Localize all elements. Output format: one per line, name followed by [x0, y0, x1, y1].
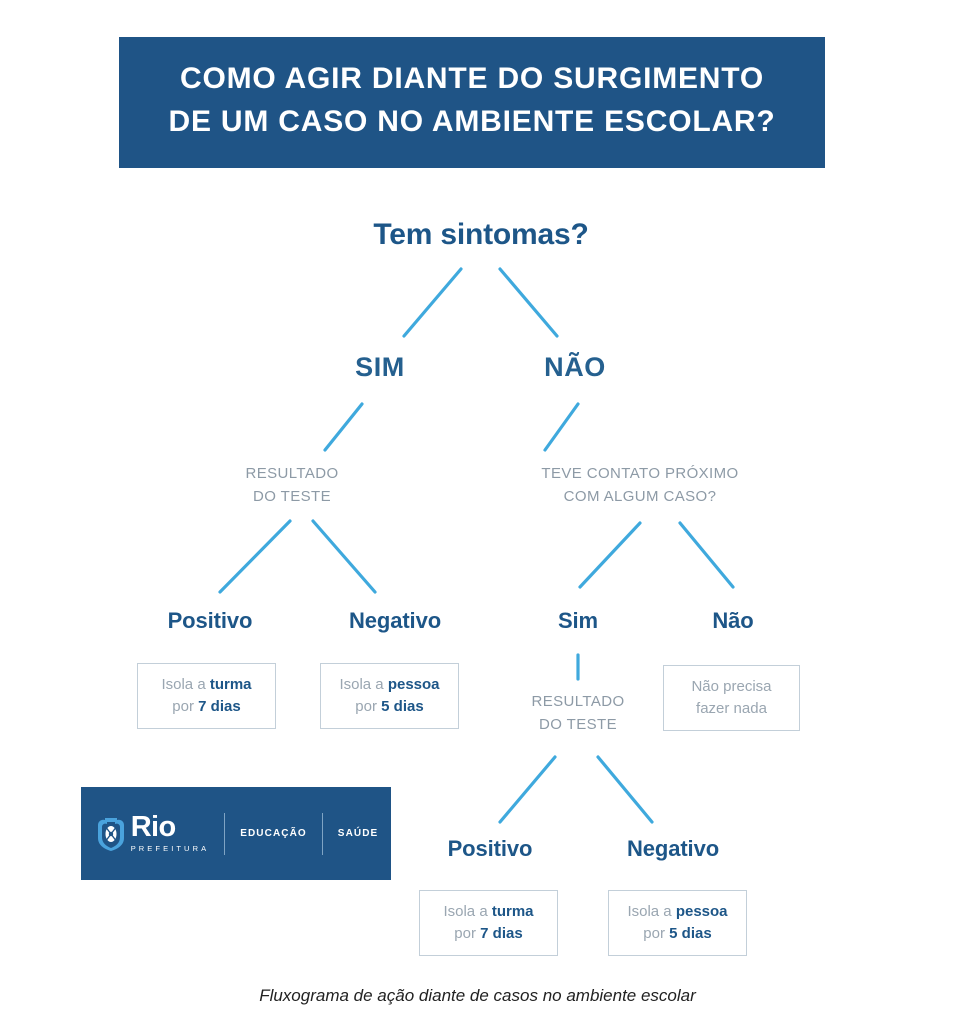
outcome-line-2: por 7 dias [172, 696, 240, 719]
sub-question-line2: DO TESTE [488, 713, 668, 736]
header-banner: COMO AGIR DIANTE DO SURGIMENTO DE UM CAS… [119, 37, 825, 168]
outcome-box-negativo-right: Isola a pessoa por 5 dias [608, 890, 747, 956]
sub-question-line1: RESULTADO [202, 462, 382, 485]
outcome-line-2: por 7 dias [454, 923, 522, 946]
leaf-label-contato-nao: Não [673, 608, 793, 634]
logo-subtitle: PREFEITURA [131, 844, 210, 853]
logo-divider-2 [322, 813, 323, 855]
outcome-text-strong: pessoa [388, 676, 440, 693]
outcome-text-prefix: Isola a [161, 676, 209, 693]
logo-divider-1 [224, 813, 225, 855]
connector-resultado-to-positivo [220, 521, 290, 592]
leaf-label-positivo-right: Positivo [410, 836, 570, 862]
outcome-box-nao-precisa: Não precisa fazer nada [663, 665, 800, 731]
branch-label-sim: SIM [330, 352, 430, 383]
outcome-text-prefix: Isola a [443, 903, 491, 920]
outcome-line-2: fazer nada [696, 698, 767, 721]
connector-sim-to-resultado [325, 404, 362, 450]
outcome-text-strong: turma [210, 676, 252, 693]
outcome-text-strong: pessoa [676, 903, 728, 920]
outcome-text-strong: 5 dias [669, 925, 712, 942]
root-question: Tem sintomas? [331, 218, 631, 252]
sub-question-line1: TEVE CONTATO PRÓXIMO [495, 462, 785, 485]
connector-nao-to-contato [545, 404, 578, 450]
outcome-text-prefix: por [454, 925, 480, 942]
outcome-line-2: por 5 dias [355, 696, 423, 719]
figure-caption: Fluxograma de ação diante de casos no am… [0, 986, 955, 1006]
sub-question-resultado-teste-left: RESULTADO DO TESTE [202, 462, 382, 509]
connector-root-to-sim [404, 269, 461, 336]
sub-question-line2: COM ALGUM CASO? [495, 485, 785, 508]
sub-question-resultado-teste-right: RESULTADO DO TESTE [488, 690, 668, 737]
connector-root-to-nao [500, 269, 557, 336]
outcome-text-prefix: Isola a [627, 903, 675, 920]
outcome-line-1: Isola a turma [161, 674, 251, 697]
connector-resultado2-to-positivo [500, 757, 555, 822]
outcome-line-2: por 5 dias [643, 923, 711, 946]
outcome-box-positivo-left: Isola a turma por 7 dias [137, 663, 276, 729]
leaf-label-negativo-left: Negativo [310, 608, 480, 634]
rio-coat-of-arms-icon [94, 816, 128, 852]
outcome-line-1: Isola a pessoa [339, 674, 439, 697]
outcome-text-strong: turma [492, 903, 534, 920]
connector-contato-to-nao [680, 523, 733, 587]
rio-wordmark: Rio PREFEITURA [131, 814, 210, 853]
sub-question-line1: RESULTADO [488, 690, 668, 713]
logo-tag-educacao: EDUCAÇÃO [240, 828, 307, 839]
sub-question-line2: DO TESTE [202, 485, 382, 508]
header-title-line2: DE UM CASO NO AMBIENTE ESCOLAR? [168, 101, 775, 144]
outcome-line-1: Isola a turma [443, 901, 533, 924]
outcome-box-positivo-right: Isola a turma por 7 dias [419, 890, 558, 956]
branch-label-nao: NÃO [525, 352, 625, 383]
connector-resultado2-to-negativo [598, 757, 652, 822]
logo-inner: Rio PREFEITURA EDUCAÇÃO SAÚDE [94, 813, 379, 855]
leaf-label-contato-sim: Sim [518, 608, 638, 634]
outcome-box-negativo-left: Isola a pessoa por 5 dias [320, 663, 459, 729]
outcome-text-prefix: por [355, 698, 381, 715]
leaf-label-positivo-left: Positivo [130, 608, 290, 634]
outcome-text-prefix: Isola a [339, 676, 387, 693]
logo-name: Rio [131, 814, 176, 842]
connector-contato-to-sim [580, 523, 640, 587]
header-title-line1: COMO AGIR DIANTE DO SURGIMENTO [180, 58, 764, 101]
logo-tag-saude: SAÚDE [338, 828, 379, 839]
outcome-text-strong: 7 dias [480, 925, 523, 942]
outcome-text-strong: 5 dias [381, 698, 424, 715]
connector-resultado-to-negativo [313, 521, 375, 592]
rio-prefeitura-logo-block: Rio PREFEITURA EDUCAÇÃO SAÚDE [81, 787, 391, 880]
leaf-label-negativo-right: Negativo [588, 836, 758, 862]
outcome-line-1: Isola a pessoa [627, 901, 727, 924]
outcome-text-prefix: por [643, 925, 669, 942]
outcome-text-strong: 7 dias [198, 698, 241, 715]
infographic-page: COMO AGIR DIANTE DO SURGIMENTO DE UM CAS… [0, 0, 955, 1024]
outcome-text-prefix: por [172, 698, 198, 715]
sub-question-teve-contato: TEVE CONTATO PRÓXIMO COM ALGUM CASO? [495, 462, 785, 509]
outcome-line-1: Não precisa [691, 676, 771, 699]
